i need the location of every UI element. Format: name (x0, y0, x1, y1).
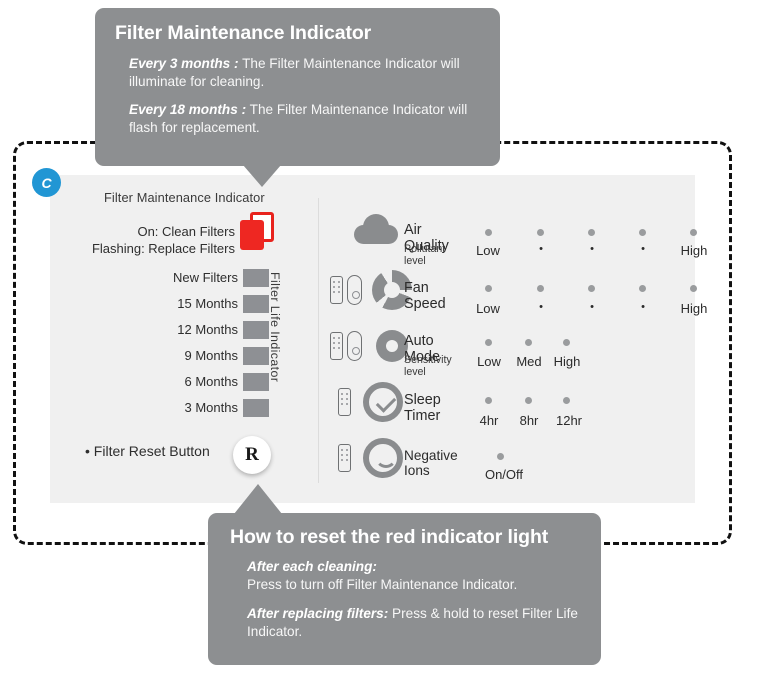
smile-circle-icon (363, 438, 403, 478)
air-quality-scale-label: • (590, 243, 594, 255)
remote-control-icon (338, 388, 351, 416)
negative-ions-dot[interactable] (497, 453, 504, 460)
top-callout-paragraph: Every 3 months : The Filter Maintenance … (129, 55, 480, 90)
diagram-stage: C Filter Maintenance Indicator On: Clean… (0, 0, 759, 678)
filter-life-indicator-caption-text: Filter Life Indicator (268, 272, 282, 382)
fan-speed-icon-group (330, 270, 412, 310)
life-step-label: 3 Months (110, 398, 238, 424)
life-step-label: 6 Months (110, 372, 238, 398)
top-callout: Filter Maintenance Indicator Every 3 mon… (95, 8, 500, 166)
cloud-icon (354, 214, 398, 244)
top-callout-tail (243, 165, 281, 187)
bottom-callout: How to reset the red indicator light Aft… (208, 513, 601, 665)
power-pod-icon (347, 275, 362, 305)
top-callout-paragraph: Every 18 months : The Filter Maintenance… (129, 101, 480, 136)
remote-control-icon (330, 276, 343, 304)
air-quality-scale-label: • (539, 243, 543, 255)
filter-life-indicator-bars (243, 269, 269, 425)
bottom-callout-paragraph: After replacing filters: Press & hold to… (247, 605, 579, 640)
filter-icon-front-sheet (240, 220, 264, 250)
auto-mode-dot[interactable] (525, 339, 532, 346)
filter-status-on: On: Clean Filters (85, 223, 235, 240)
auto-mode-scale-label: High (554, 354, 581, 369)
life-step-label: 9 Months (110, 346, 238, 372)
air-quality-scale-label: High (681, 243, 708, 258)
filter-status-lines: On: Clean Filters Flashing: Replace Filt… (85, 223, 235, 257)
auto-mode-scale-label: Low (477, 354, 501, 369)
filter-status-flashing: Flashing: Replace Filters (85, 240, 235, 257)
fan-speed-scale-label: • (641, 301, 645, 313)
air-quality-icon-group (354, 214, 398, 244)
auto-mode-dot[interactable] (563, 339, 570, 346)
fan-speed-label: Fan Speed (404, 280, 446, 312)
bottom-callout-lead: After replacing filters: (247, 606, 388, 621)
air-quality-sublabel: Pollutant level (404, 243, 445, 267)
fan-speed-dot[interactable] (639, 285, 646, 292)
negative-ions-label: Negative Ions (404, 448, 458, 478)
life-bar (243, 347, 269, 365)
air-quality-dot[interactable] (537, 229, 544, 236)
sleep-timer-dot[interactable] (525, 397, 532, 404)
top-callout-lead: Every 3 months : (129, 56, 239, 71)
auto-mode-dot[interactable] (485, 339, 492, 346)
fan-speed-dot[interactable] (485, 285, 492, 292)
filter-reset-button-letter: R (245, 444, 259, 466)
sleep-timer-scale-label: 12hr (556, 413, 582, 428)
air-quality-dot[interactable] (588, 229, 595, 236)
fan-speed-dot[interactable] (690, 285, 697, 292)
sleep-timer-dot[interactable] (563, 397, 570, 404)
auto-mode-scale-label: Med (516, 354, 541, 369)
filter-reset-label: • Filter Reset Button (85, 443, 210, 459)
life-bar (243, 269, 269, 287)
fan-speed-scale-label: High (681, 301, 708, 316)
top-callout-title: Filter Maintenance Indicator (115, 22, 480, 45)
life-step-label: New Filters (110, 268, 238, 294)
air-quality-dot[interactable] (690, 229, 697, 236)
life-bar (243, 373, 269, 391)
filter-life-indicator-caption: Filter Life Indicator (268, 272, 286, 402)
red-filter-indicator-icon (240, 212, 274, 250)
fan-speed-dot[interactable] (537, 285, 544, 292)
sleep-timer-scale-label: 4hr (480, 413, 499, 428)
auto-mode-sublabel: Sensitivity level (404, 354, 452, 378)
section-badge-letter: C (41, 175, 51, 191)
air-quality-scale-label: Low (476, 243, 500, 258)
sleep-timer-dot[interactable] (485, 397, 492, 404)
negative-ions-icon-group (338, 438, 403, 478)
fan-speed-scale-label: Low (476, 301, 500, 316)
bottom-callout-lead: After each cleaning: (247, 559, 377, 574)
bottom-callout-title: How to reset the red indicator light (230, 526, 579, 549)
life-step-label: 12 Months (110, 320, 238, 346)
sleep-timer-scale-label: 8hr (520, 413, 539, 428)
remote-control-icon (330, 332, 343, 360)
negative-ions-scale-label: On/Off (485, 467, 523, 482)
power-pod-icon (347, 331, 362, 361)
auto-mode-icon-group (330, 326, 412, 366)
sleep-timer-label: Sleep Timer (404, 392, 441, 424)
check-circle-icon (363, 382, 403, 422)
air-quality-scale-label: • (641, 243, 645, 255)
sleep-timer-icon-group (338, 382, 403, 422)
top-callout-lead: Every 18 months : (129, 102, 246, 117)
section-badge-c: C (32, 168, 61, 197)
life-bar (243, 399, 269, 417)
left-panel-title: Filter Maintenance Indicator (104, 190, 265, 205)
fan-speed-dot[interactable] (588, 285, 595, 292)
column-divider (318, 198, 319, 483)
bottom-callout-tail (234, 484, 282, 514)
fan-speed-scale-label: • (590, 301, 594, 313)
fan-speed-scale-label: • (539, 301, 543, 313)
filter-reset-button[interactable]: R (233, 436, 271, 474)
bottom-callout-paragraph: After each cleaning: Press to turn off F… (247, 558, 579, 593)
life-bar (243, 321, 269, 339)
air-quality-dot[interactable] (485, 229, 492, 236)
bottom-callout-text: Press to turn off Filter Maintenance Ind… (247, 577, 517, 592)
life-step-label: 15 Months (110, 294, 238, 320)
life-bar (243, 295, 269, 313)
filter-life-step-labels: New Filters 15 Months 12 Months 9 Months… (110, 268, 238, 424)
remote-control-icon (338, 444, 351, 472)
air-quality-dot[interactable] (639, 229, 646, 236)
